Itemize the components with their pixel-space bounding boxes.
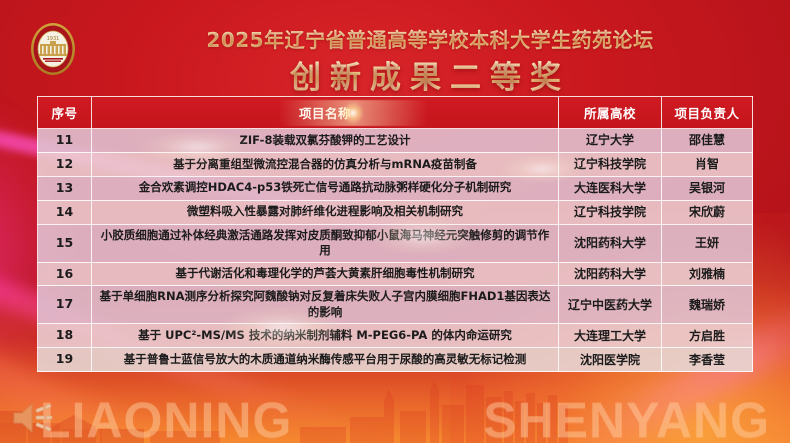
- cell-org: 大连理工大学: [559, 324, 662, 348]
- cell-project-name: 基于单细胞RNA测序分析探究阿魏酸钠对反复着床失败人子宫内膜细胞FHAD1基因表…: [92, 286, 559, 324]
- cell-project-name: 微塑料吸入性暴露对肺纤维化进程影响及相关机制研究: [92, 200, 559, 224]
- cell-org: 沈阳药科大学: [559, 262, 662, 286]
- slide-canvas: LIAONING SHENYANG 1931: [0, 0, 790, 443]
- cell-org: 辽宁大学: [559, 129, 662, 153]
- cell-leader: 方启胜: [662, 324, 753, 348]
- award-table-container: 序号 项目名称 所属高校 项目负责人 11ZIF-8装载双氯芬酸钾的工艺设计辽宁…: [37, 96, 753, 372]
- cell-leader: 吴银河: [662, 176, 753, 200]
- col-header-no: 序号: [38, 97, 92, 129]
- cell-no: 14: [38, 200, 92, 224]
- table-row: 14微塑料吸入性暴露对肺纤维化进程影响及相关机制研究辽宁科技学院宋欣蔚: [38, 200, 753, 224]
- cell-project-name: 金合欢素调控HDAC4-p53铁死亡信号通路抗动脉粥样硬化分子机制研究: [92, 176, 559, 200]
- award-subtitle: 创新成果二等奖: [110, 52, 750, 97]
- watermark-shenyang: SHENYANG: [483, 395, 770, 443]
- table-row: 13金合欢素调控HDAC4-p53铁死亡信号通路抗动脉粥样硬化分子机制研究大连医…: [38, 176, 753, 200]
- cell-leader: 宋欣蔚: [662, 200, 753, 224]
- cell-no: 17: [38, 286, 92, 324]
- table-header-row: 序号 项目名称 所属高校 项目负责人: [38, 97, 753, 129]
- table-row: 16基于代谢活化和毒理化学的芦荟大黄素肝细胞毒性机制研究沈阳药科大学刘雅楠: [38, 262, 753, 286]
- cell-leader: 李香莹: [662, 348, 753, 372]
- cell-leader: 魏瑞娇: [662, 286, 753, 324]
- table-body: 11ZIF-8装载双氯芬酸钾的工艺设计辽宁大学邵佳慧12基于分离重组型微流控混合…: [38, 129, 753, 372]
- watermark-liaoning: LIAONING: [40, 395, 292, 443]
- cell-project-name: 小胶质细胞通过补体经典激活通路发挥对皮质酮致抑郁小鼠海马神经元突触修剪的调节作用: [92, 224, 559, 262]
- cell-leader: 邵佳慧: [662, 129, 753, 153]
- cell-org: 辽宁中医药大学: [559, 286, 662, 324]
- cell-project-name: 基于普鲁士蓝信号放大的木质通道纳米酶传感平台用于尿酸的高灵敏无标记检测: [92, 348, 559, 372]
- cell-no: 15: [38, 224, 92, 262]
- table-row: 11ZIF-8装载双氯芬酸钾的工艺设计辽宁大学邵佳慧: [38, 129, 753, 153]
- cell-no: 11: [38, 129, 92, 153]
- page-title: 2025年辽宁省普通高等学校本科大学生药苑论坛: [110, 24, 750, 53]
- cell-project-name: 基于 UPC²-MS/MS 技术的纳米制剂辅料 M-PEG6-PA 的体内命运研…: [92, 324, 559, 348]
- table-row: 17基于单细胞RNA测序分析探究阿魏酸钠对反复着床失败人子宫内膜细胞FHAD1基…: [38, 286, 753, 324]
- cell-org: 大连医科大学: [559, 176, 662, 200]
- cell-leader: 王妍: [662, 224, 753, 262]
- cell-no: 18: [38, 324, 92, 348]
- table-head: 序号 项目名称 所属高校 项目负责人: [38, 97, 753, 129]
- cell-org: 沈阳药科大学: [559, 224, 662, 262]
- cell-project-name: 基于代谢活化和毒理化学的芦荟大黄素肝细胞毒性机制研究: [92, 262, 559, 286]
- table-row: 15小胶质细胞通过补体经典激活通路发挥对皮质酮致抑郁小鼠海马神经元突触修剪的调节…: [38, 224, 753, 262]
- cell-no: 12: [38, 152, 92, 176]
- cell-project-name: ZIF-8装载双氯芬酸钾的工艺设计: [92, 129, 559, 153]
- table-row: 12基于分离重组型微流控混合器的仿真分析与mRNA疫苗制备辽宁科技学院肖智: [38, 152, 753, 176]
- speaker-icon[interactable]: [10, 399, 54, 437]
- cell-org: 辽宁科技学院: [559, 200, 662, 224]
- col-header-org: 所属高校: [559, 97, 662, 129]
- cell-org: 辽宁科技学院: [559, 152, 662, 176]
- table-row: 18基于 UPC²-MS/MS 技术的纳米制剂辅料 M-PEG6-PA 的体内命…: [38, 324, 753, 348]
- cell-leader: 肖智: [662, 152, 753, 176]
- cell-leader: 刘雅楠: [662, 262, 753, 286]
- cell-org: 沈阳医学院: [559, 348, 662, 372]
- university-emblem: 1931: [27, 20, 79, 78]
- table-row: 19基于普鲁士蓝信号放大的木质通道纳米酶传感平台用于尿酸的高灵敏无标记检测沈阳医…: [38, 348, 753, 372]
- cell-no: 13: [38, 176, 92, 200]
- cell-no: 19: [38, 348, 92, 372]
- cell-project-name: 基于分离重组型微流控混合器的仿真分析与mRNA疫苗制备: [92, 152, 559, 176]
- col-header-project-name: 项目名称: [92, 97, 559, 129]
- col-header-leader: 项目负责人: [662, 97, 753, 129]
- cell-no: 16: [38, 262, 92, 286]
- award-table: 序号 项目名称 所属高校 项目负责人 11ZIF-8装载双氯芬酸钾的工艺设计辽宁…: [37, 96, 753, 372]
